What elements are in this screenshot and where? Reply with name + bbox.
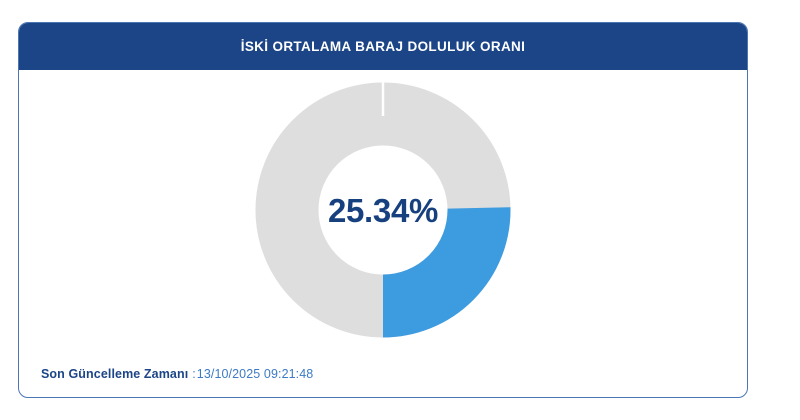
donut-chart-svg — [255, 82, 511, 338]
dam-occupancy-card: İSKİ ORTALAMA BARAJ DOLULUK ORANI 25.34%… — [18, 22, 748, 398]
chart-area: 25.34% — [19, 70, 747, 352]
page-root: İSKİ ORTALAMA BARAJ DOLULUK ORANI 25.34%… — [0, 0, 800, 420]
donut-chart: 25.34% — [255, 82, 511, 338]
card-footer: Son Güncelleme Zamanı : 13/10/2025 09:21… — [19, 350, 747, 397]
last-update-timestamp: 13/10/2025 09:21:48 — [197, 367, 314, 381]
page-title: İSKİ ORTALAMA BARAJ DOLULUK ORANI — [241, 39, 526, 54]
card-header: İSKİ ORTALAMA BARAJ DOLULUK ORANI — [19, 23, 747, 70]
last-update-label: Son Güncelleme Zamanı — [41, 367, 188, 381]
last-update-separator: : — [188, 367, 196, 381]
